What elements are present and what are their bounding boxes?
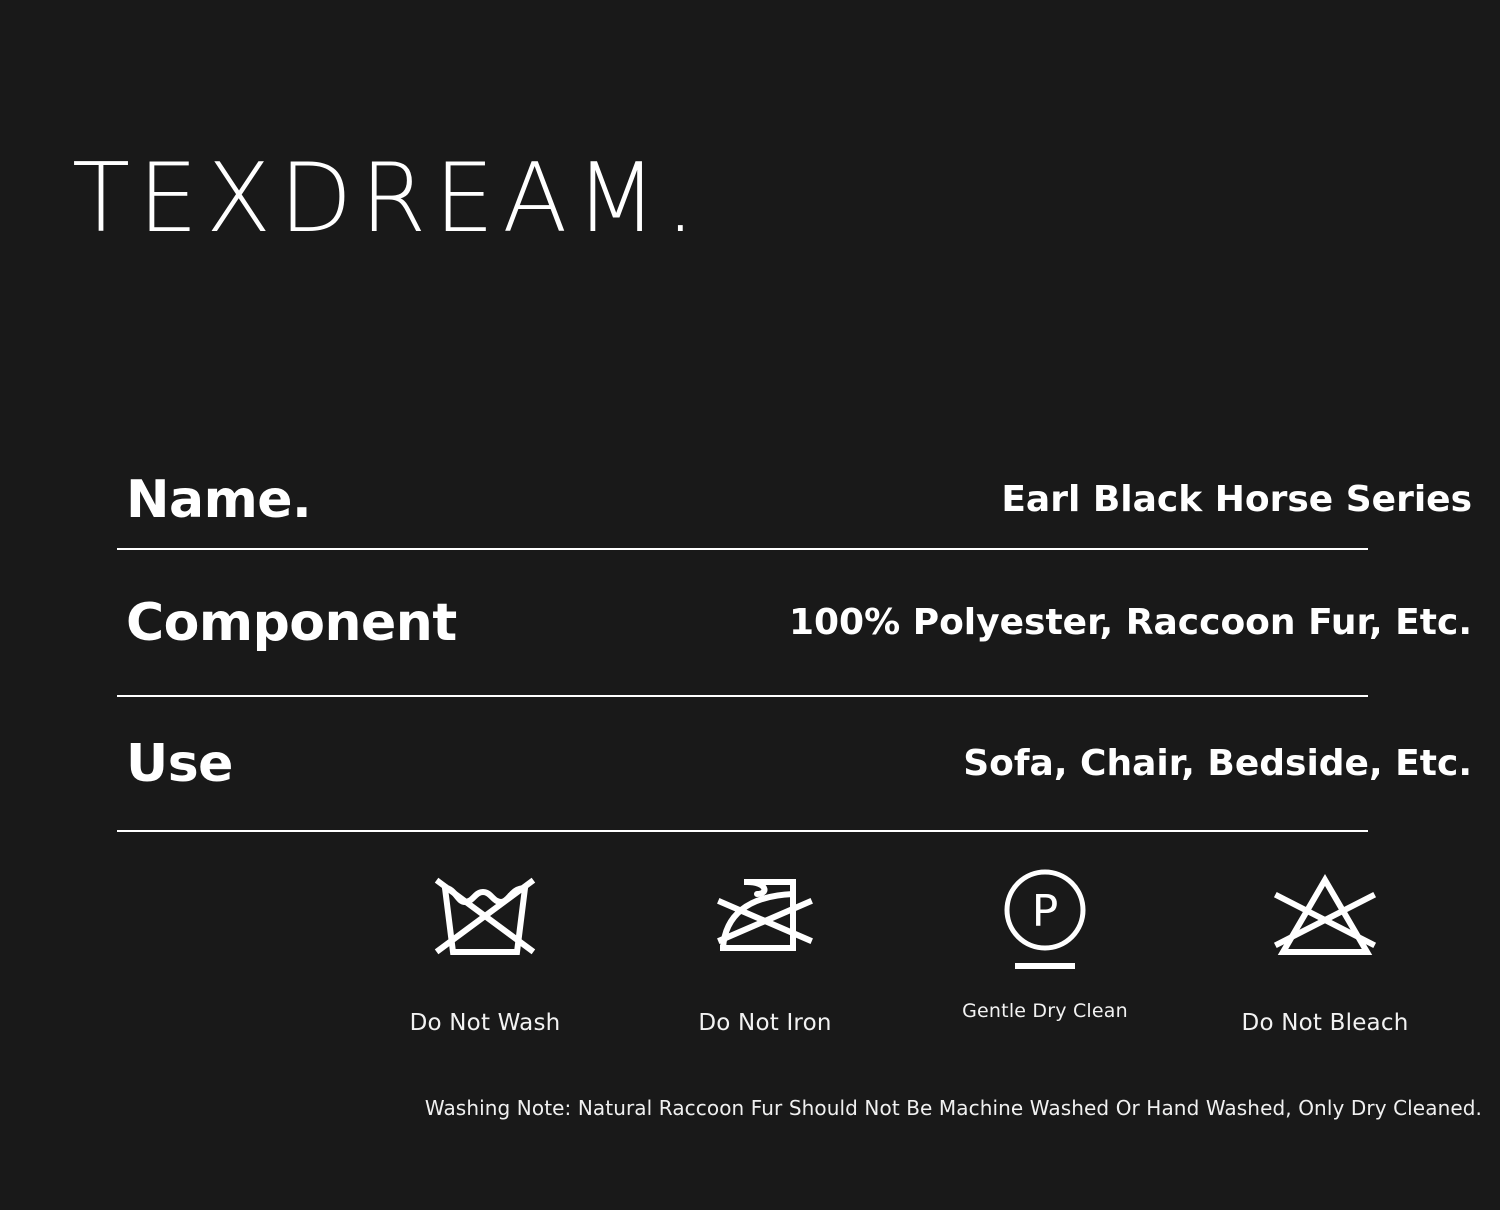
do-not-iron-icon <box>713 860 817 972</box>
brand-logo: TEXDREAM. <box>72 152 703 247</box>
care-caption-do-not-wash: Do Not Wash <box>410 1010 561 1036</box>
do-not-wash-icon <box>433 860 537 972</box>
care-item-do-not-wash: Do Not Wash <box>360 860 610 1036</box>
table-row: Use Sofa, Chair, Bedside, Etc. <box>117 697 1420 832</box>
table-row: Name. Earl Black Horse Series <box>117 452 1420 550</box>
gentle-dry-clean-icon: P <box>997 860 1093 980</box>
care-caption-do-not-iron: Do Not Iron <box>698 1010 831 1036</box>
spec-value-use: Sofa, Chair, Bedside, Etc. <box>963 746 1472 782</box>
care-caption-do-not-bleach: Do Not Bleach <box>1242 1010 1409 1036</box>
washing-note: Washing Note: Natural Raccoon Fur Should… <box>425 1096 1482 1120</box>
spec-label-component: Component <box>117 597 457 649</box>
care-label-card: TEXDREAM. Name. Earl Black Horse Series … <box>0 0 1500 1210</box>
spec-label-name: Name. <box>117 474 311 526</box>
svg-text:P: P <box>1032 886 1059 937</box>
care-item-do-not-bleach: Do Not Bleach <box>1200 860 1450 1036</box>
specification-table: Name. Earl Black Horse Series Component … <box>117 452 1420 832</box>
row-divider <box>117 830 1368 832</box>
table-row: Component 100% Polyester, Raccoon Fur, E… <box>117 550 1420 697</box>
spec-value-component: 100% Polyester, Raccoon Fur, Etc. <box>789 605 1472 641</box>
care-symbol-row: Do Not Wash Do Not Iron P <box>360 860 1450 1036</box>
care-item-gentle-dry-clean: P Gentle Dry Clean <box>920 860 1170 1022</box>
spec-label-use: Use <box>117 738 233 790</box>
care-caption-gentle-dry-clean: Gentle Dry Clean <box>962 1000 1128 1022</box>
do-not-bleach-icon <box>1270 860 1380 972</box>
care-item-do-not-iron: Do Not Iron <box>640 860 890 1036</box>
spec-value-name: Earl Black Horse Series <box>1001 482 1472 518</box>
